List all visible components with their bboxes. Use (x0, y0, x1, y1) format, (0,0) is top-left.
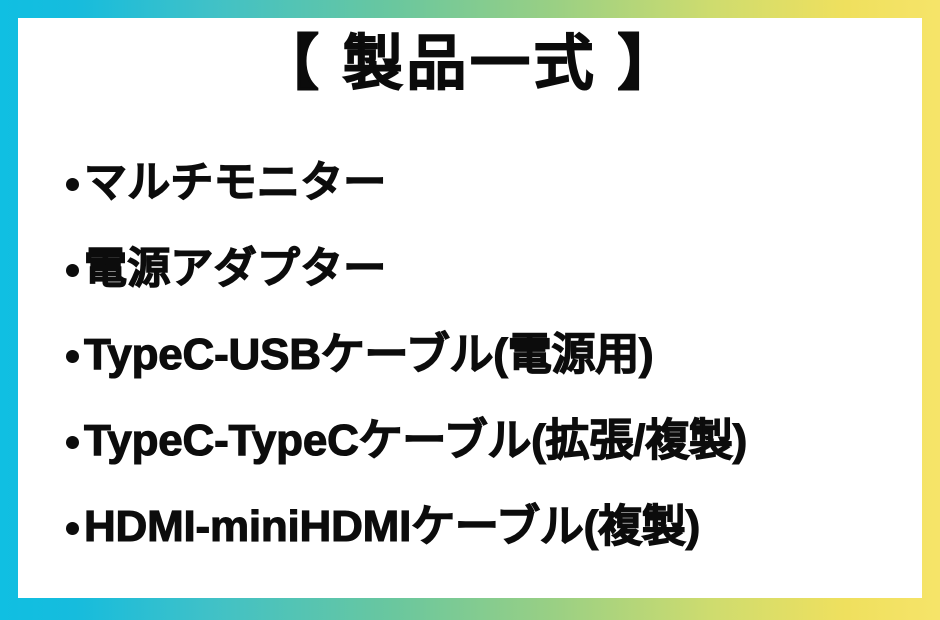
list-item: TypeC‐USBケーブル(電源用) (66, 312, 904, 398)
list-item-label: TypeC‐USBケーブル(電源用) (84, 333, 653, 377)
list-item-label: HDMI-miniHDMIケーブル(複製) (84, 505, 700, 549)
content-card: 【 製品一式 】 マルチモニター 電源アダプター TypeC‐USBケーブル(電… (18, 18, 922, 598)
list-item: マルチモニター (66, 140, 904, 226)
list-item-label: TypeC-TypeCケーブル(拡張/複製) (84, 419, 747, 463)
list-item: HDMI-miniHDMIケーブル(複製) (66, 484, 904, 570)
bullet-icon (66, 264, 79, 277)
bullet-icon (66, 178, 79, 191)
page-title: 【 製品一式 】 (18, 34, 922, 94)
bullet-icon (66, 522, 79, 535)
list-item-label: マルチモニター (84, 162, 387, 205)
poster-frame: 【 製品一式 】 マルチモニター 電源アダプター TypeC‐USBケーブル(電… (0, 0, 940, 620)
bullet-icon (66, 350, 79, 363)
list-item: 電源アダプター (66, 226, 904, 312)
list-item-label: 電源アダプター (84, 248, 387, 291)
product-contents-list: マルチモニター 電源アダプター TypeC‐USBケーブル(電源用) TypeC… (66, 140, 904, 570)
bullet-icon (66, 436, 79, 449)
list-item: TypeC-TypeCケーブル(拡張/複製) (66, 398, 904, 484)
